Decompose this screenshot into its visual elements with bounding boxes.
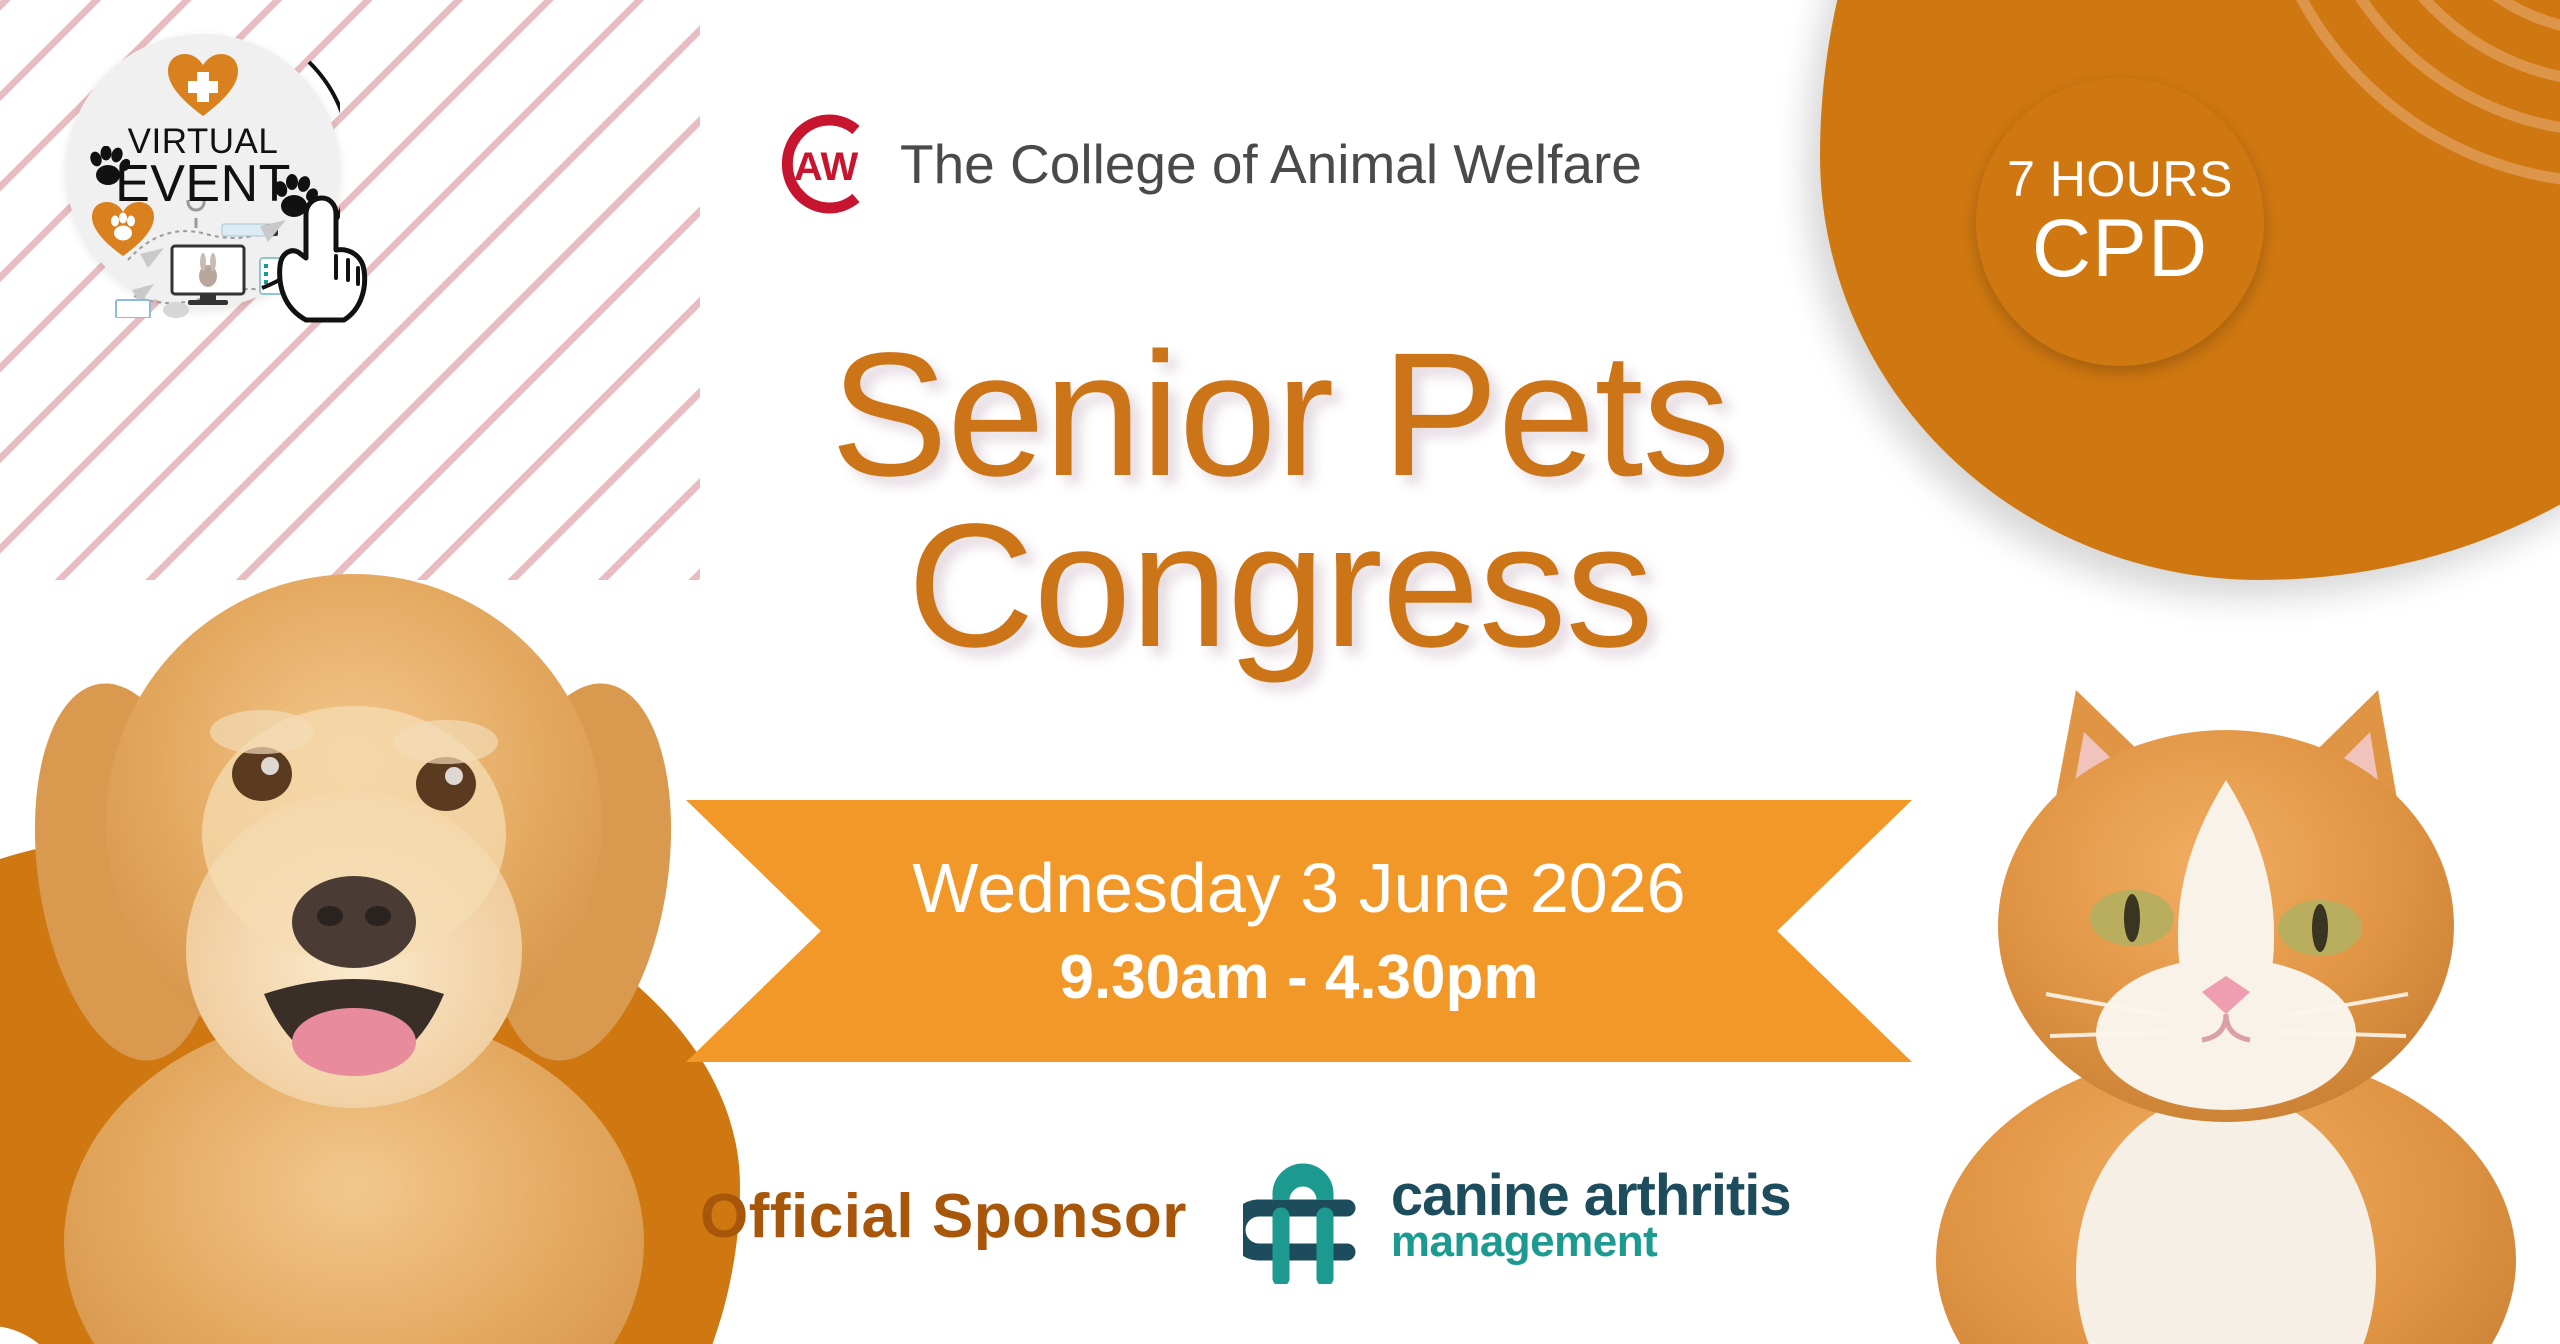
sponsor-name: canine arthritis management xyxy=(1391,1169,1791,1263)
virtual-event-badge: VIRTUAL EVENT xyxy=(66,34,340,308)
title-line-2: Congress xyxy=(0,501,2560,672)
concentric-rings-decoration xyxy=(2230,0,2560,212)
caw-logo: AW The College of Animal Welfare xyxy=(770,110,1642,218)
title-line-1: Senior Pets xyxy=(0,330,2560,501)
cpd-label: CPD xyxy=(2032,208,2208,290)
event-promo-poster: VIRTUAL EVENT AW The College of Animal W… xyxy=(0,0,2560,1344)
sponsor-label: Official Sponsor xyxy=(700,1181,1187,1252)
canine-arthritis-management-logo: canine arthritis management xyxy=(1243,1148,1791,1284)
sponsor-name-line1: canine arthritis xyxy=(1391,1169,1791,1222)
orange-cat-photo xyxy=(1926,660,2560,1344)
sponsor-name-line2: management xyxy=(1391,1222,1791,1262)
sponsor-section: Official Sponsor canine arthritis manage… xyxy=(700,1148,1791,1284)
heart-medical-cross-icon xyxy=(166,52,240,118)
cpd-hours-label: 7 HOURS xyxy=(2007,154,2233,204)
event-date: Wednesday 3 June 2026 xyxy=(912,853,1685,923)
canine-arthritis-monogram-icon xyxy=(1243,1148,1369,1284)
page-title: Senior Pets Congress xyxy=(0,330,2560,671)
event-time: 9.30am - 4.30pm xyxy=(1059,947,1538,1009)
pointing-hand-cursor-icon xyxy=(270,194,374,326)
cpd-hours-badge: 7 HOURS CPD xyxy=(1976,78,2264,366)
caw-monogram-icon: AW xyxy=(770,110,878,218)
svg-text:AW: AW xyxy=(794,145,859,189)
organisation-name: The College of Animal Welfare xyxy=(900,132,1642,196)
event-date-ribbon: Wednesday 3 June 2026 9.30am - 4.30pm xyxy=(686,800,1912,1062)
